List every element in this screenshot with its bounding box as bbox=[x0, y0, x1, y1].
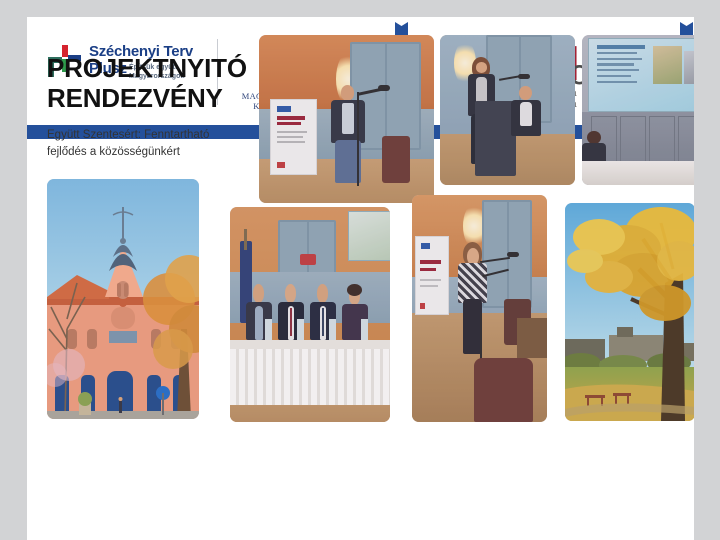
bar-notch bbox=[395, 17, 408, 26]
page-subtitle: Együtt Szentesért: Fenntartható fejlődés… bbox=[47, 127, 257, 161]
title-line1: PROJEKTNYITÓ bbox=[47, 53, 247, 83]
title-line2: RENDEZVÉNY bbox=[47, 83, 223, 113]
photo-woman-at-podium bbox=[440, 35, 575, 185]
photo-panel-table bbox=[230, 207, 390, 422]
photo-man-at-microphone bbox=[259, 35, 434, 203]
photo-autumn-tree bbox=[565, 203, 694, 421]
photo-historic-building bbox=[47, 179, 199, 419]
page-title: PROJEKTNYITÓ RENDEZVÉNY bbox=[47, 53, 257, 113]
photo-woman-speaking bbox=[412, 195, 547, 422]
subtitle-line2: fejlődés a közösségünkért bbox=[47, 146, 180, 158]
presentation-slide: Széchenyi Terv Plusz Építsük együtt Magy… bbox=[27, 17, 694, 540]
bar-notch bbox=[680, 17, 693, 26]
photo-projection-screen bbox=[582, 35, 694, 185]
subtitle-line1: Együtt Szentesért: Fenntartható bbox=[47, 129, 209, 141]
title-block: PROJEKTNYITÓ RENDEZVÉNY Együtt Szentesér… bbox=[47, 53, 257, 161]
